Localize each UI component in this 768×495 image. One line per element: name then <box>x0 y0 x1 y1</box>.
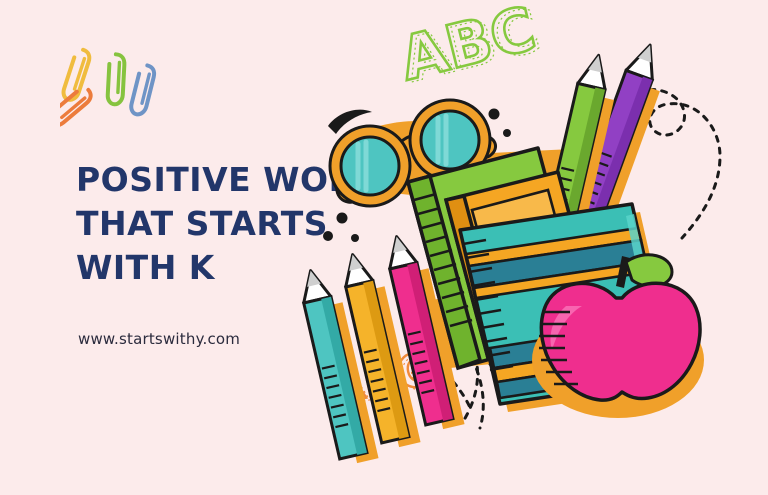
paperclip-group <box>60 38 180 133</box>
dots-cluster-left-icon <box>323 213 359 243</box>
paperclip-blue-icon <box>129 64 156 116</box>
svg-text:ABC: ABC <box>393 0 542 95</box>
site-url-label: www.startswithy.com <box>78 330 240 348</box>
banner: POSITIVE WORDS THAT STARTS WITH K www.st… <box>0 0 768 495</box>
abc-top-decoration: ABC ABC <box>393 0 547 98</box>
svg-text:ABC: ABC <box>398 0 547 97</box>
paperclip-green-icon <box>107 54 125 105</box>
school-supplies-illustration: ABC ABC ABC ABC <box>300 0 768 495</box>
